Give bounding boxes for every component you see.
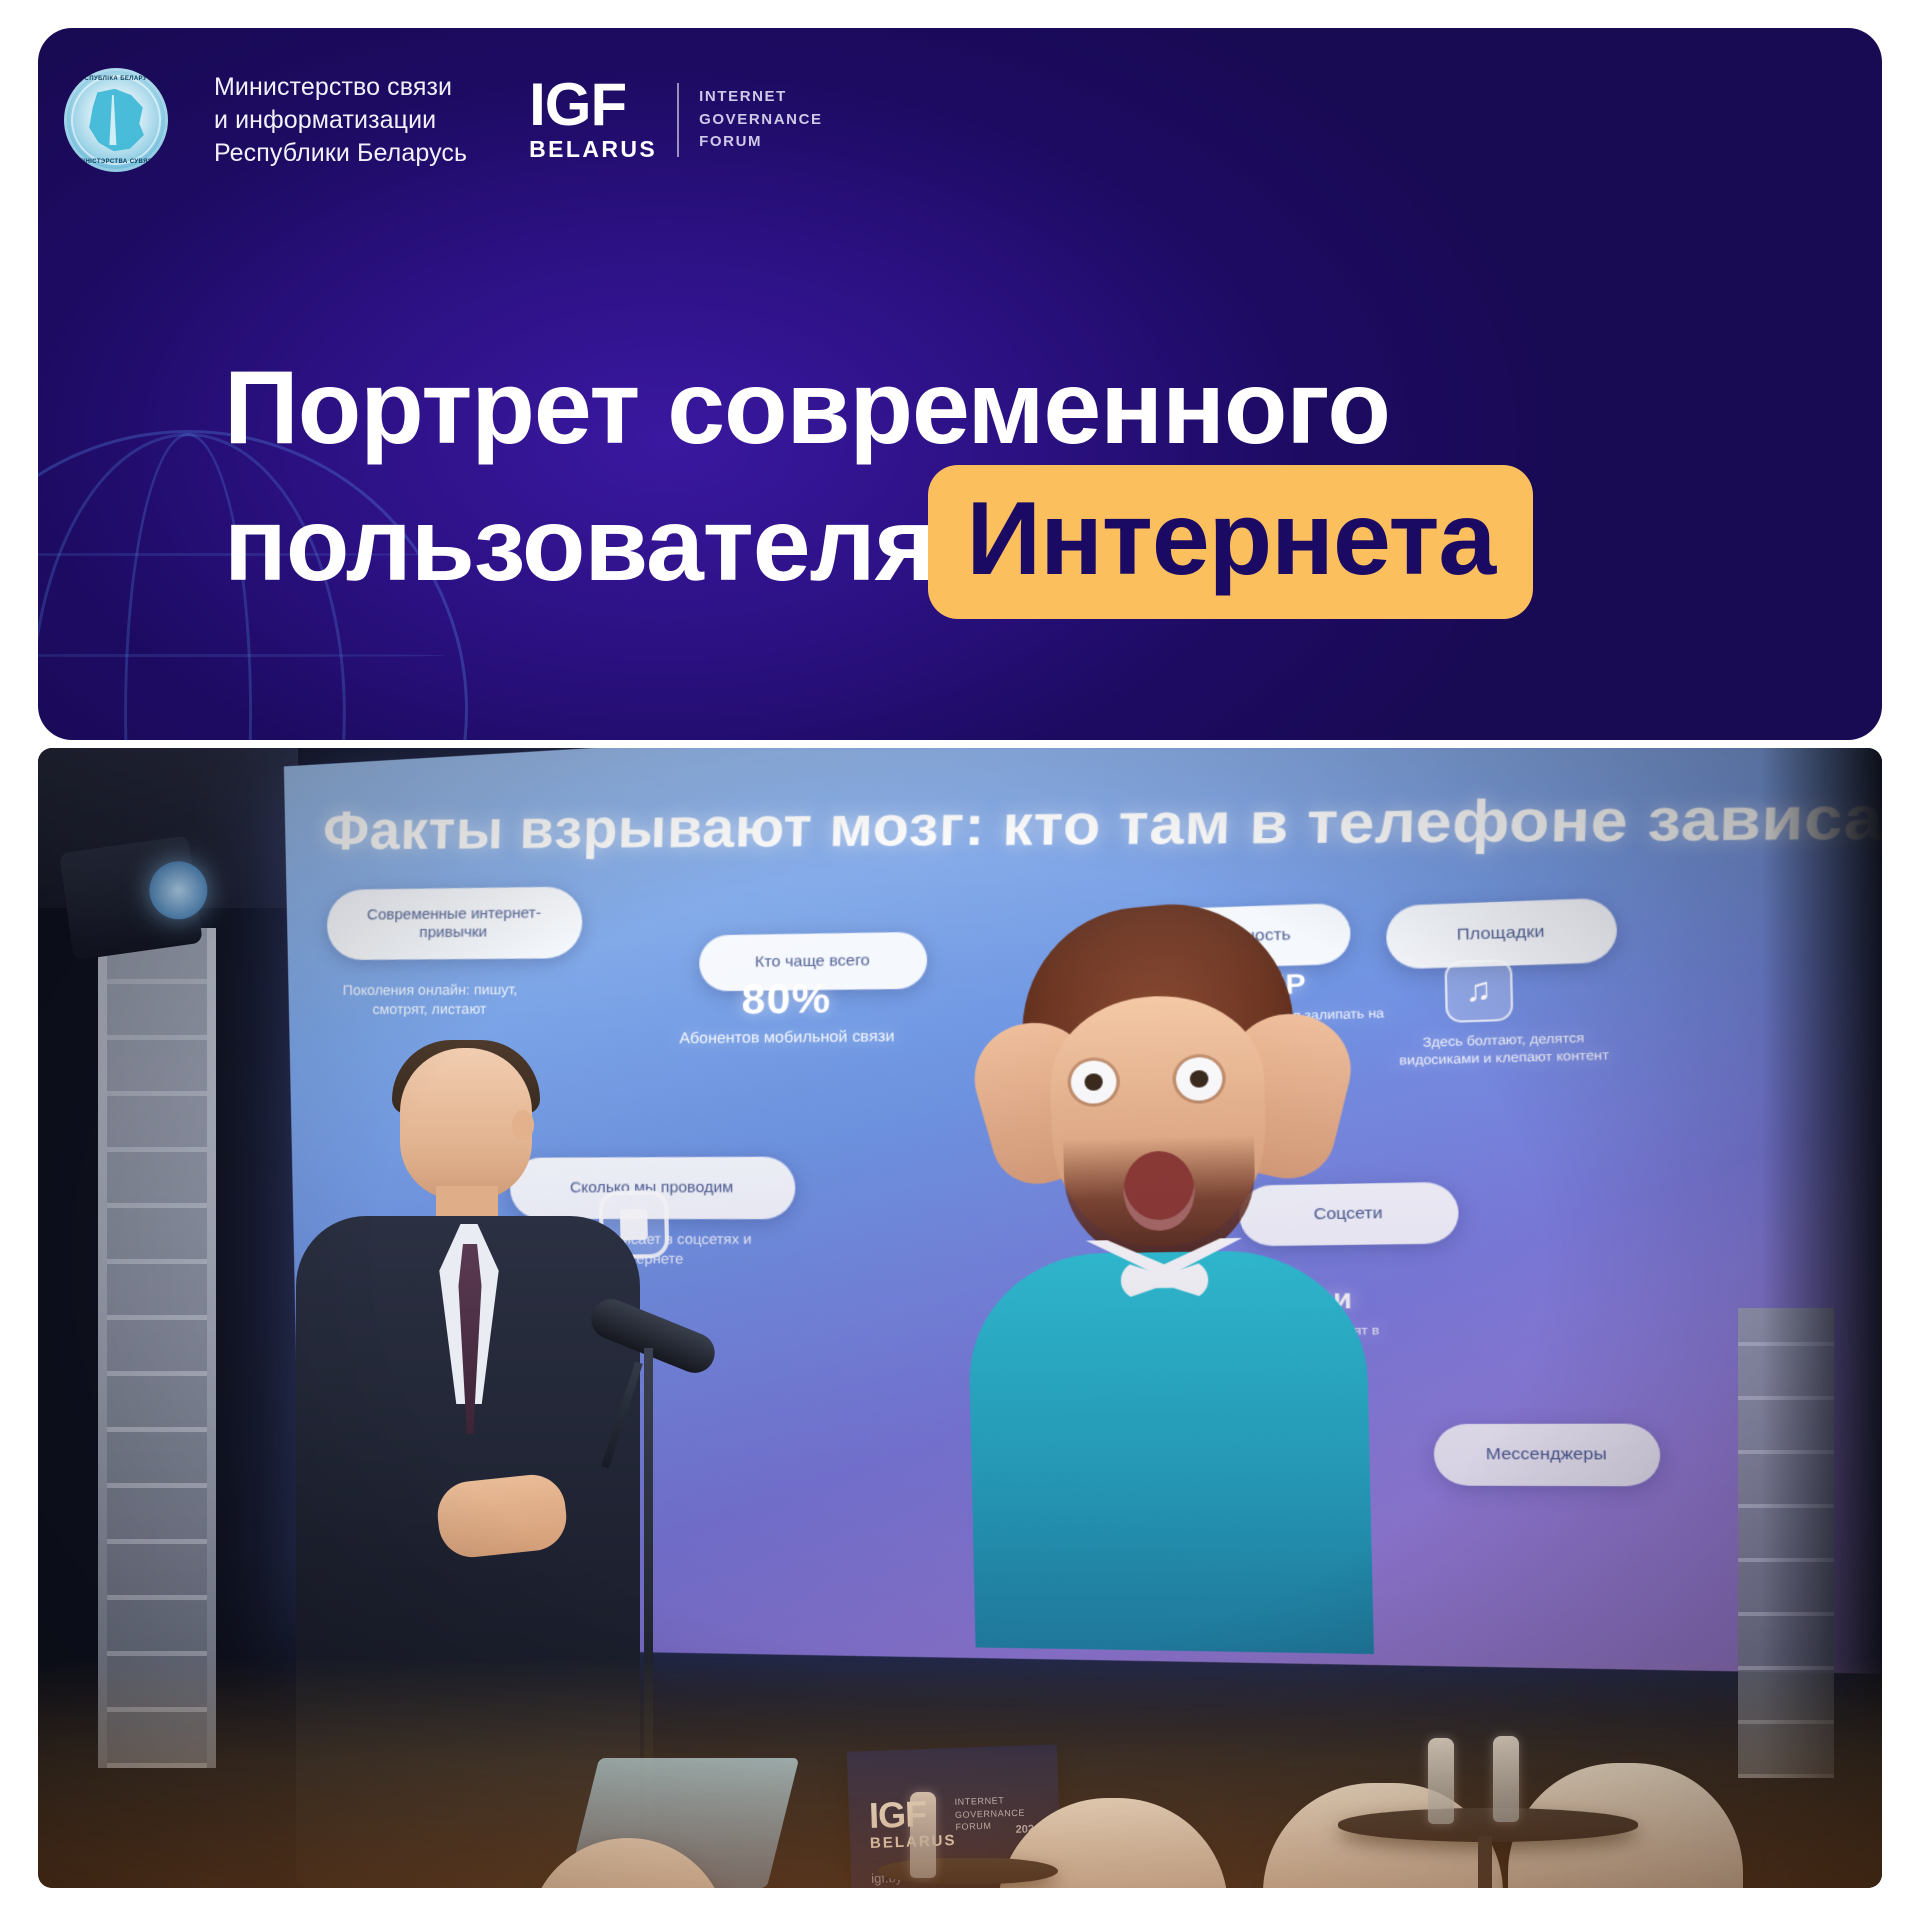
title-line-2-row: пользователя Интернета	[224, 469, 1844, 623]
man-shirt	[967, 1249, 1374, 1654]
speaker-ear	[512, 1110, 534, 1140]
screen-weekday-label: Будние дни	[1120, 1282, 1401, 1318]
right-wall-shadow	[1762, 748, 1882, 1888]
ministry-name: Министерство связи и информатизации Респ…	[214, 71, 467, 170]
poster-page: РЭСПУБЛІКА БЕЛАРУСЬ МІНІСТЭРСТВА СУВЯЗІ …	[0, 0, 1920, 1920]
screen-stat-caption: Абонентов мобильной связи	[663, 1026, 912, 1049]
screen-pill-5: Площадки	[1386, 898, 1618, 970]
screen-evening-label: ВЕЧЕР	[1113, 965, 1393, 1007]
man-eye-left	[1070, 1060, 1116, 1104]
screen-weekday-block: Будние дни Время, когда мемы читают и ча…	[1120, 1282, 1402, 1359]
title-banner: РЭСПУБЛІКА БЕЛАРУСЬ МІНІСТЭРСТВА СУВЯЗІ …	[38, 28, 1882, 740]
tiktok-note-icon: ♫	[1444, 959, 1513, 1023]
banner-header: РЭСПУБЛІКА БЕЛАРУСЬ МІНІСТЭРСТВА СУВЯЗІ …	[64, 68, 823, 172]
screen-weekday-text: Время, когда мемы читают и чатят в соцсе…	[1121, 1321, 1402, 1358]
side-table-2	[878, 1858, 1058, 1884]
igf-logo-lockup: IGF BELARUS INTERNET GOVERNANCE FORUM	[529, 77, 823, 162]
man-collar	[1086, 1238, 1244, 1303]
man-hair	[1013, 894, 1296, 1078]
emblem-text-bottom: МІНІСТЭРСТВА СУВЯЗІ	[64, 159, 168, 165]
title-line-2: пользователя	[224, 485, 934, 606]
igf-wordmark: IGF BELARUS	[529, 77, 657, 162]
screen-stat-block: 80% Абонентов мобильной связи	[663, 974, 912, 1049]
water-bottle-1	[1428, 1738, 1454, 1824]
man-hand-left	[962, 1010, 1119, 1194]
man-face	[1049, 992, 1268, 1247]
igf-letters: IGF	[529, 77, 626, 133]
screen-faint-text-1: Поколения онлайн: пишут, смотрят, листаю…	[323, 980, 537, 1019]
belarus-ministry-emblem-icon: РЭСПУБЛІКА БЕЛАРУСЬ МІНІСТЭРСТВА СУВЯЗІ	[64, 68, 168, 172]
screen-evening-text: Работа закончена — время залипать на You…	[1114, 1004, 1394, 1046]
man-bowtie	[1120, 1260, 1208, 1300]
screen-tiktok-block: Здесь болтают, делятся видосиками и клеп…	[1388, 1022, 1619, 1070]
screen-evening-block: ВЕЧЕР Работа закончена — время залипать …	[1113, 965, 1394, 1047]
man-mouth	[1123, 1150, 1196, 1231]
screen-stat-percent: 80%	[663, 974, 912, 1024]
water-bottle-2	[1493, 1736, 1519, 1822]
screen-headline: Факты взрывают мозг: кто там в телефоне …	[322, 782, 1882, 862]
title-line-1: Портрет современного	[224, 348, 1844, 469]
title-highlight-badge: Интернета	[928, 465, 1533, 619]
igf-divider	[677, 83, 679, 157]
man-eye-right	[1176, 1057, 1223, 1102]
banner-title: Портрет современного пользователя Интерн…	[224, 348, 1844, 623]
emblem-text-top: РЭСПУБЛІКА БЕЛАРУСЬ	[64, 76, 168, 82]
screen-pill-2: Кто чаще всего	[699, 932, 927, 992]
stage-spotlight	[59, 835, 203, 960]
man-hand-right	[1205, 1004, 1363, 1187]
igf-subtitle: INTERNET GOVERNANCE FORUM	[699, 86, 823, 154]
screen-pill-1: Современные интернет-привычки	[327, 886, 583, 960]
man-beard	[1063, 1121, 1257, 1265]
water-bottle-3	[910, 1792, 936, 1878]
screen-pill-7: Мессенджеры	[1433, 1424, 1661, 1487]
screen-tiktok-text: Здесь болтают, делятся видосиками и клеп…	[1389, 1028, 1620, 1070]
stage-photograph: Факты взрывают мозг: кто там в телефоне …	[38, 748, 1882, 1888]
stressed-man-photo	[915, 886, 1415, 1654]
igf-country: BELARUS	[529, 136, 657, 163]
side-table-1-leg	[1478, 1836, 1492, 1888]
microphone-boom	[601, 1361, 643, 1468]
screen-pill-4: Активность	[1140, 903, 1350, 970]
stage-truss	[98, 928, 216, 1768]
screen-pill-6: Соцсети	[1239, 1182, 1459, 1247]
